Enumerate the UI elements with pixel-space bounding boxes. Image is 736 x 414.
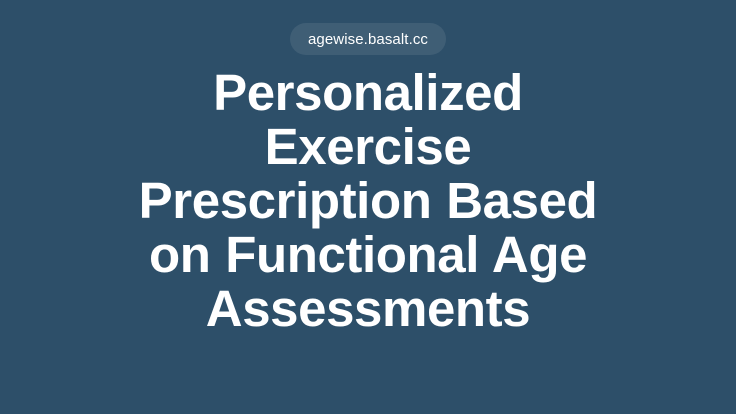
domain-badge[interactable]: agewise.basalt.cc: [290, 23, 446, 55]
og-preview-card: agewise.basalt.cc Personalized Exercise …: [0, 0, 736, 414]
title-line-1: Personalized: [58, 66, 678, 120]
title-line-3: Prescription Based: [58, 174, 678, 228]
page-title: Personalized Exercise Prescription Based…: [58, 66, 678, 336]
badge-row: agewise.basalt.cc: [0, 23, 736, 55]
title-line-5: Assessments: [58, 282, 678, 336]
title-line-4: on Functional Age: [58, 228, 678, 282]
title-line-2: Exercise: [58, 120, 678, 174]
